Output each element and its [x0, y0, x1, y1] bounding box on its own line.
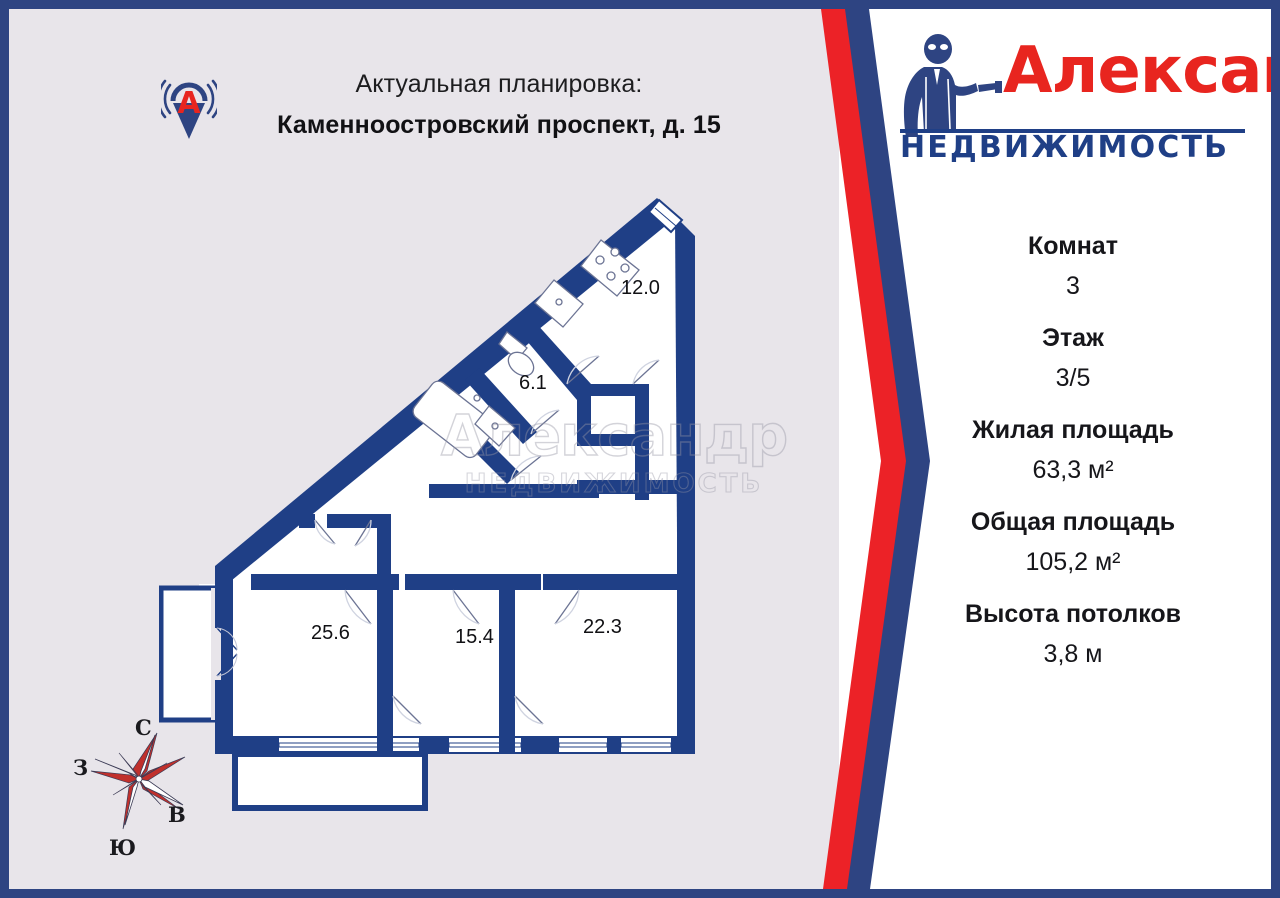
room-label-room-right: 22.3 — [583, 616, 622, 639]
floor-plan: 12.0 6.1 25.6 15.4 22.3 — [159, 184, 739, 844]
info-label-floor: Этаж — [889, 323, 1257, 353]
info-label-living-area: Жилая площадь — [889, 415, 1257, 445]
compass-rose: С З В Ю — [51, 707, 226, 877]
balcony-box — [235, 754, 425, 808]
poster-canvas: А Актуальная планировка: Каменноостровск… — [9, 9, 1271, 889]
info-label-rooms: Комнат — [889, 231, 1257, 261]
info-value-living-area: 63,3 м² — [889, 455, 1257, 485]
info-value-rooms: 3 — [889, 271, 1257, 301]
room-label-room-middle: 15.4 — [455, 626, 494, 649]
map-pin-icon: А — [161, 67, 217, 153]
info-label-total-area: Общая площадь — [889, 507, 1257, 537]
logo-brand-text: Александр — [1003, 37, 1271, 105]
compass-north-label: С — [135, 715, 152, 740]
info-value-ceiling-height: 3,8 м — [889, 639, 1257, 669]
compass-east-label: В — [168, 802, 186, 827]
header-address: Каменноостровский проспект, д. 15 — [229, 107, 769, 143]
info-value-total-area: 105,2 м² — [889, 547, 1257, 577]
room-label-living-room-left: 25.6 — [311, 622, 350, 645]
room-label-kitchen: 12.0 — [621, 277, 660, 300]
property-info-list: Комнат 3 Этаж 3/5 Жилая площадь 63,3 м² … — [889, 231, 1257, 691]
header-subtitle: Актуальная планировка: — [229, 67, 769, 101]
svg-text:А: А — [177, 86, 201, 121]
info-label-ceiling-height: Высота потолков — [889, 599, 1257, 629]
room-label-bathroom: 6.1 — [519, 372, 547, 395]
header: А Актуальная планировка: Каменноостровск… — [149, 59, 769, 169]
compass-west-label: З — [73, 755, 88, 780]
info-value-floor: 3/5 — [889, 363, 1257, 393]
company-logo: Александр НЕДВИЖИМОСТЬ — [898, 31, 1250, 165]
compass-south-label: Ю — [109, 835, 136, 860]
poster-frame: А Актуальная планировка: Каменноостровск… — [0, 0, 1280, 898]
logo-tagline-text: НЕДВИЖИМОСТЬ — [900, 131, 1248, 165]
